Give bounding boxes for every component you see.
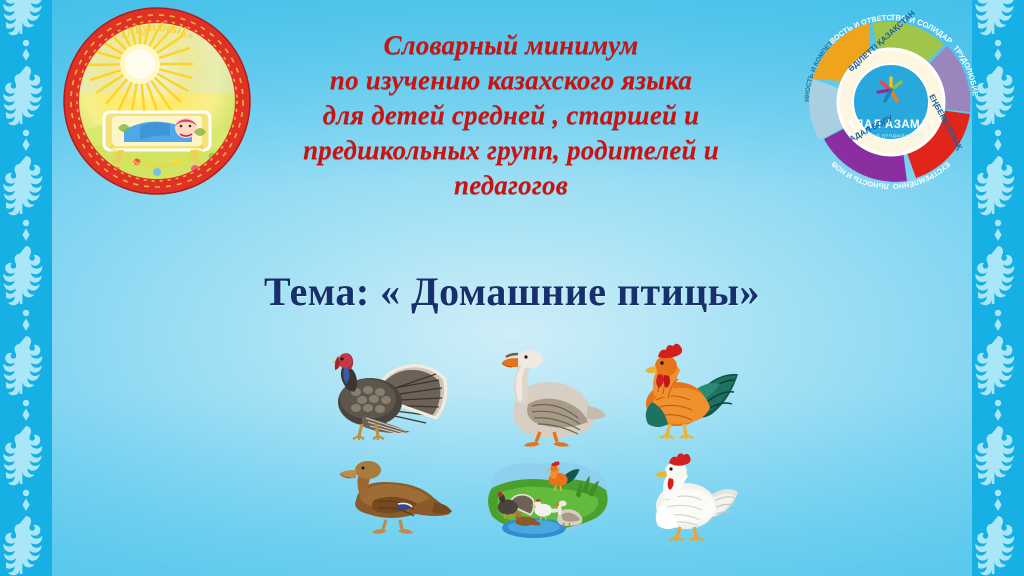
- bird-duck-image: [334, 458, 454, 536]
- values-wheel-emblem: АДАЛ АЗАМАТ ҰЛТТЫҚ ҚҰНДЫЛЫҚТАР СПРАВЕДЛИ…: [789, 0, 994, 190]
- presentation-slide: «Altyn besik» Казахстан Республикасы КМҚ…: [0, 0, 1024, 576]
- title-line-2: по изучению казахского языка: [246, 63, 776, 98]
- title-line-5: педагогов: [246, 168, 776, 203]
- bird-goose-image: [488, 344, 608, 449]
- title-line-1: Словарный минимум: [246, 28, 776, 63]
- bird-turkey-image: [318, 344, 458, 444]
- page-title: Словарный минимум по изучению казахского…: [246, 28, 776, 203]
- bird-rooster-image: [618, 344, 743, 444]
- poultry-image-gallery: [300, 336, 770, 556]
- kindergarten-emblem: «Altyn besik» Казахстан Республикасы КМҚ…: [62, 4, 252, 200]
- bird-hen-image: [636, 454, 741, 542]
- farmyard-scene-image: [486, 458, 611, 540]
- title-line-3: для детей средней , старшей и: [246, 98, 776, 133]
- title-line-4: предшкольных групп, родителей и: [246, 133, 776, 168]
- topic-subtitle: Тема: « Домашние птицы»: [0, 268, 1024, 316]
